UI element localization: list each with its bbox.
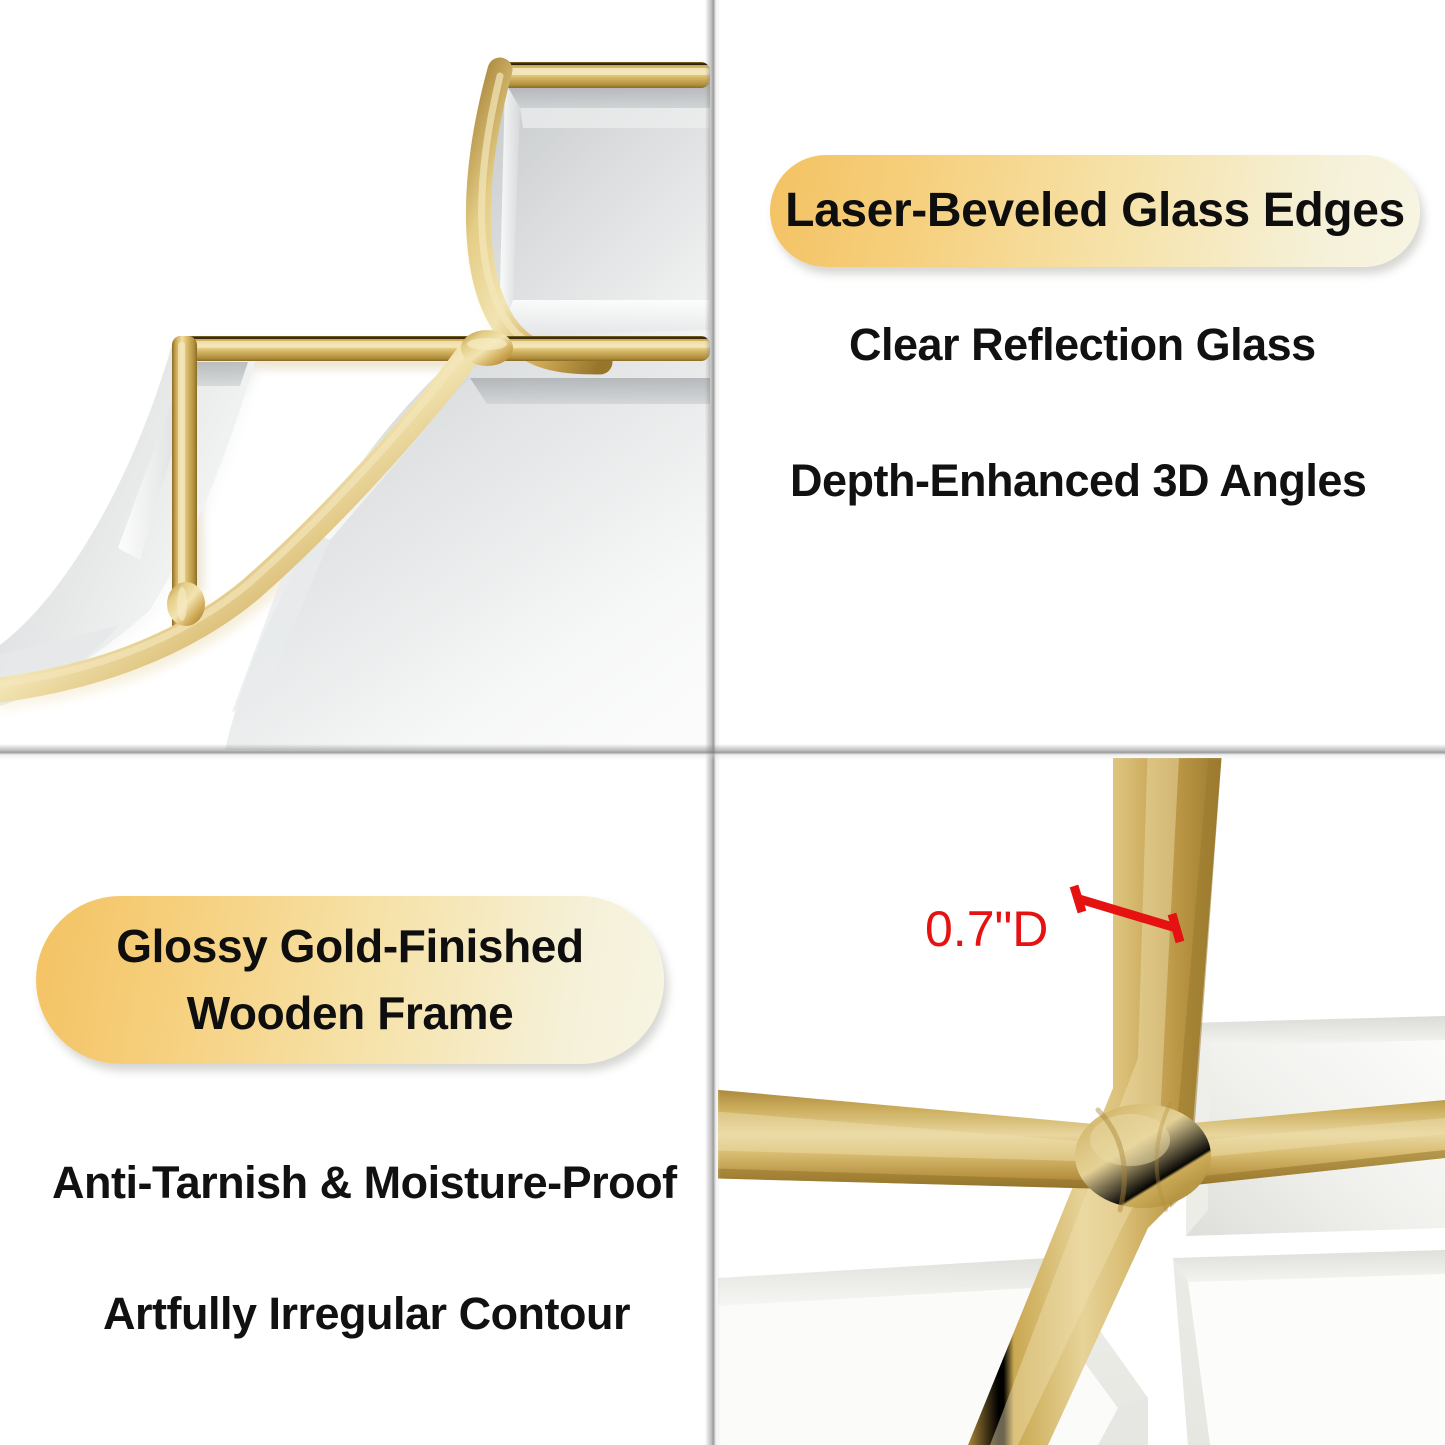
mirror-corner-panel <box>0 0 710 750</box>
feature-depth-enhanced-3d-angles: Depth-Enhanced 3D Angles <box>790 455 1366 507</box>
frame-joint-panel <box>718 758 1445 1445</box>
badge-glossy-gold-finished-wooden-frame: Glossy Gold-Finished Wooden Frame <box>36 896 664 1064</box>
dimension-arrow-icon <box>1060 880 1230 960</box>
dimension-label-depth: 0.7"D <box>925 900 1048 958</box>
badge-laser-beveled-glass-edges: Laser-Beveled Glass Edges <box>770 155 1420 267</box>
vertical-divider <box>705 0 721 1445</box>
feature-anti-tarnish-moisture-proof: Anti-Tarnish & Moisture-Proof <box>52 1157 677 1209</box>
horizontal-divider <box>0 744 1445 760</box>
badge-line-1: Glossy Gold-Finished <box>116 923 583 970</box>
frame-feature-panel <box>0 758 710 1445</box>
feature-artfully-irregular-contour: Artfully Irregular Contour <box>103 1288 630 1340</box>
badge-line-2: Wooden Frame <box>187 990 514 1037</box>
frame-joint-illustration <box>718 758 1445 1445</box>
product-feature-infographic: Laser-Beveled Glass Edges Clear Reflecti… <box>0 0 1445 1445</box>
feature-clear-reflection-glass: Clear Reflection Glass <box>849 319 1316 371</box>
glass-feature-panel <box>718 0 1445 750</box>
mirror-corner-illustration <box>0 0 710 750</box>
